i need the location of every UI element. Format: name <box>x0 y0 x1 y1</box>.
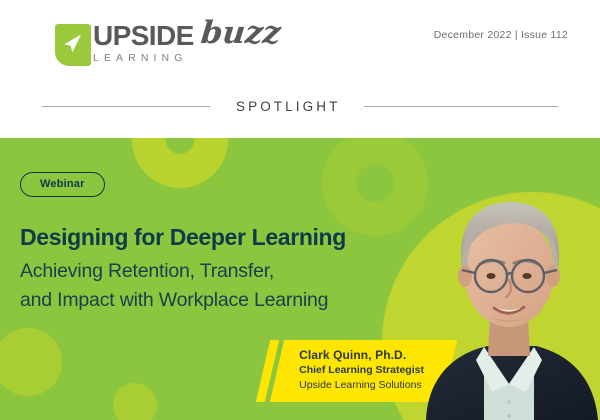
header-top-row: UPSIDE LEARNING buzz December 2022 | Iss… <box>0 0 600 66</box>
speaker-card-text: Clark Quinn, Ph.D. Chief Learning Strate… <box>299 348 424 393</box>
section-divider: SPOTLIGHT <box>0 99 600 114</box>
brand-logo[interactable]: UPSIDE LEARNING buzz <box>55 23 280 66</box>
issue-date-label: December 2022 | Issue 112 <box>434 23 568 41</box>
portrait-photo-clark-quinn <box>418 188 600 420</box>
logo-tagline: LEARNING <box>93 50 194 66</box>
upside-arrow-icon <box>55 24 91 66</box>
speaker-role: Chief Learning Strategist <box>299 363 424 378</box>
speaker-organization: Upside Learning Solutions <box>299 378 424 393</box>
badge-webinar[interactable]: Webinar <box>20 172 105 197</box>
newsletter-page: UPSIDE LEARNING buzz December 2022 | Iss… <box>0 0 600 420</box>
divider-rule-left <box>42 106 210 107</box>
logo-brand-name: UPSIDE <box>93 23 194 49</box>
decorative-ring-bottom-left <box>0 328 62 396</box>
section-label-spotlight: SPOTLIGHT <box>210 99 364 114</box>
newsletter-header: UPSIDE LEARNING buzz December 2022 | Iss… <box>0 0 600 138</box>
logo-text-stack: UPSIDE LEARNING <box>93 23 194 66</box>
speaker-name: Clark Quinn, Ph.D. <box>299 348 424 363</box>
hero-banner: Webinar Designing for Deeper Learning Ac… <box>0 138 600 420</box>
divider-rule-right <box>364 106 558 107</box>
logo-wordmark-group: UPSIDE LEARNING buzz <box>93 23 280 66</box>
logo-buzz-wordmark: buzz <box>199 20 281 47</box>
decorative-ring-small <box>113 383 157 420</box>
